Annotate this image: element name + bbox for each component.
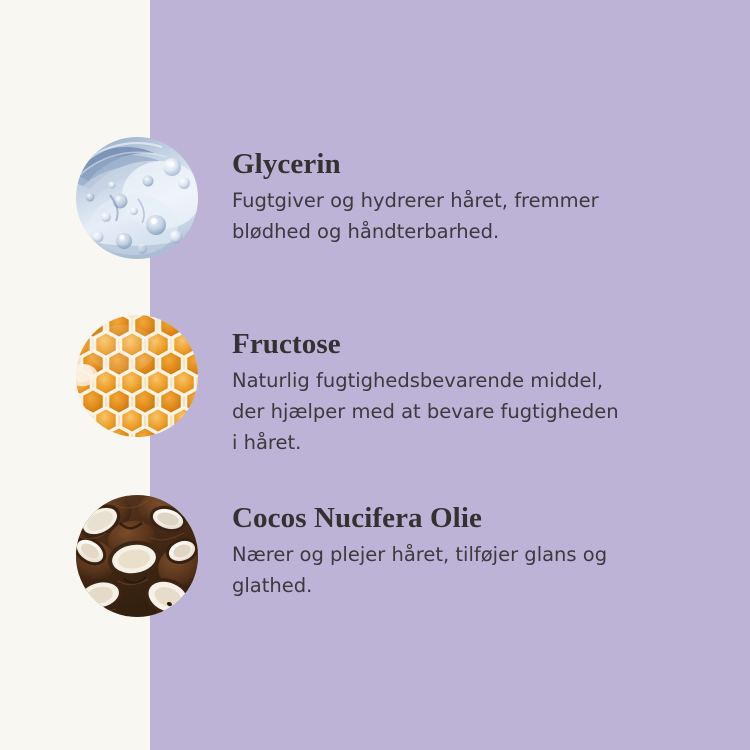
coconut-photo xyxy=(76,495,198,617)
ingredients-infographic: Glycerin Fugtgiver og hydrerer håret, fr… xyxy=(0,0,750,750)
ingredient-title: Cocos Nucifera Olie xyxy=(232,503,702,533)
ingredient-description: Fugtgiver og hydrerer håret, fremmer blø… xyxy=(232,185,702,247)
ingredient-text-block: Cocos Nucifera Olie Nærer og plejer håre… xyxy=(232,503,702,601)
ingredient-text-block: Fructose Naturlig fugtighedsbevarende mi… xyxy=(232,329,702,458)
ingredient-description: Naturlig fugtighedsbevarende middel, der… xyxy=(232,365,702,458)
ingredient-description: Nærer og plejer håret, tilføjer glans og… xyxy=(232,539,702,601)
honeycomb-photo xyxy=(76,315,198,437)
water-bubbles-photo xyxy=(76,137,198,259)
ingredient-title: Glycerin xyxy=(232,149,702,179)
ingredient-title: Fructose xyxy=(232,329,702,359)
ingredient-text-block: Glycerin Fugtgiver og hydrerer håret, fr… xyxy=(232,149,702,247)
